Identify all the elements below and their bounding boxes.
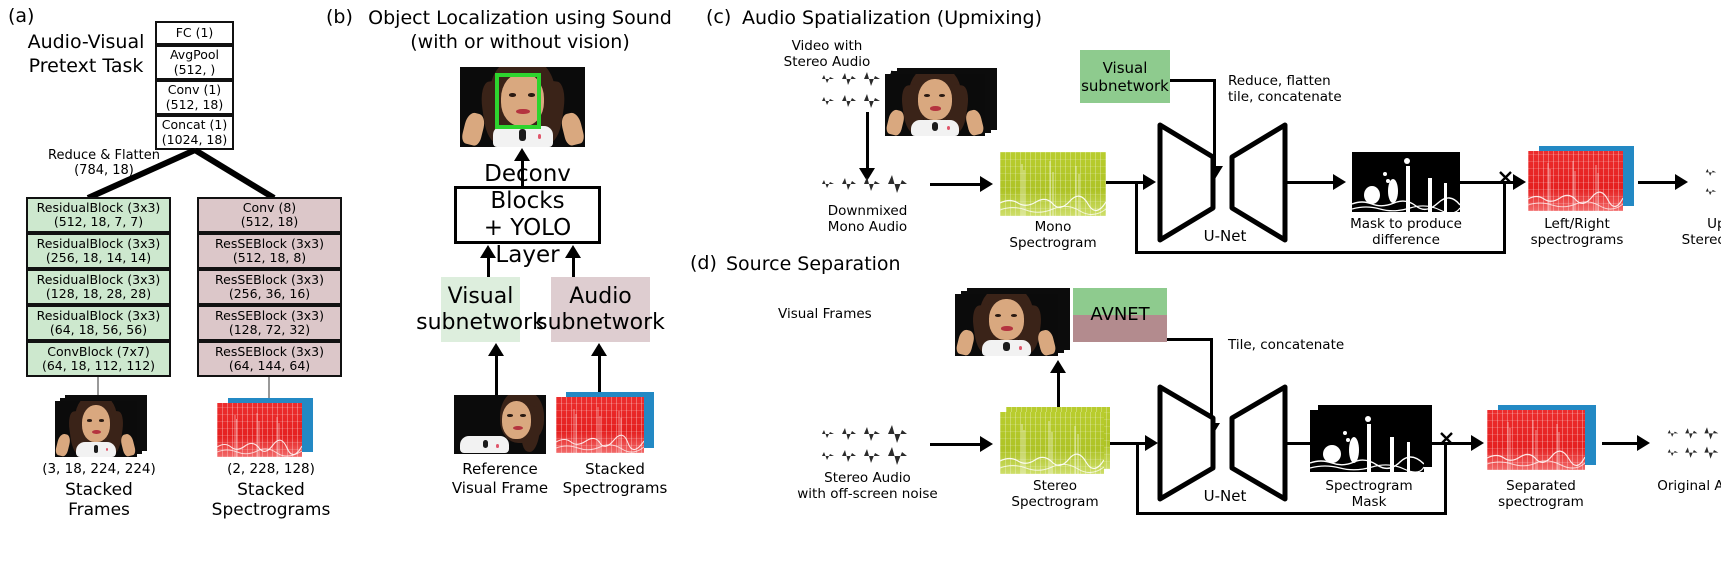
skip-connection-d-v2: [1444, 442, 1447, 515]
panel-d-label: (d): [690, 252, 717, 275]
unet-to-mask-line-c: [1286, 181, 1336, 184]
audio-stack-block-0-line2: (512, 18): [241, 215, 298, 230]
block-conv1-line2: (512, 18): [166, 98, 223, 113]
skip-connection-c-h: [1135, 251, 1506, 254]
visual-stack-block-2-line1: ResidualBlock (3x3): [37, 273, 161, 288]
visual-stack-block-0-line1: ResidualBlock (3x3): [37, 201, 161, 216]
refframe-to-visual-arrowhead: [488, 343, 504, 356]
block-conv1-line1: Conv (1): [166, 83, 223, 98]
mask-to-separated-line-d: [1424, 442, 1476, 445]
audio-subnetwork-b-line1: Audio: [536, 284, 665, 310]
detection-output-image: [460, 67, 585, 147]
panel-b-title-line2: (with or without vision): [360, 30, 680, 54]
deconv-line1: Deconv Blocks: [457, 161, 598, 215]
downmixed-caption-line1: Downmixed: [800, 203, 935, 219]
reduce-flatten-c-line1: Reduce, flatten: [1228, 73, 1388, 89]
visual-stack-block-3: ResidualBlock (3x3)(64, 18, 56, 56): [26, 305, 171, 341]
visual-stack-block-3-line2: (64, 18, 56, 56): [37, 323, 161, 338]
deconv-line2: + YOLO Layer: [457, 215, 598, 269]
mono-spec-caption-line1: Mono: [1003, 219, 1103, 235]
unet-to-mask-arrowhead-c: [1333, 174, 1346, 190]
audio-stack-block-0-line1: Conv (8): [241, 201, 298, 216]
audio-subnetwork-b-line2: subnetwork: [536, 310, 665, 336]
panel-a-title-line2: Pretext Task: [16, 54, 156, 78]
frames-caption-line1: Stacked: [28, 480, 170, 500]
original-audio-waveform: [1659, 423, 1721, 463]
panel-b-title: Object Localization using Sound (with or…: [360, 6, 680, 54]
deconv-to-image-arrowhead: [514, 148, 530, 161]
block-conv1: Conv (1) (512, 18): [155, 80, 234, 115]
panel-b-label: (b): [326, 6, 353, 29]
left-right-spectrograms-c: [1528, 146, 1638, 216]
stereo-spec-caption-line2: Spectrogram: [995, 494, 1115, 510]
visual-stack-block-1-line1: ResidualBlock (3x3): [37, 237, 161, 252]
audio-subnetwork-box-b: Audio subnetwork: [551, 277, 650, 342]
stacked-spec-b-caption-line2: Spectrograms: [532, 479, 698, 497]
mask-caption-c-line1: Mask to produce: [1345, 216, 1467, 232]
tile-concat-caption-d: Tile, concatenate: [1228, 337, 1398, 353]
video-frames-thumbnail-c: [885, 68, 997, 136]
video-stereo-caption-line2: Stereo Audio: [762, 54, 892, 70]
block-concat-line2: (1024, 18): [162, 133, 227, 148]
mask-to-lr-line-c: [1460, 181, 1518, 184]
spectrogram-mask-front-d: [1310, 410, 1424, 472]
separated-spectrogram-red-d: [1487, 410, 1585, 470]
downmix-arrow-line: [866, 112, 869, 170]
visual-subnetwork-b-line1: Visual: [416, 284, 545, 310]
skip-connection-c-v2: [1503, 181, 1506, 254]
frames-caption-line2: Frames: [28, 500, 170, 520]
video-face-image-c: [885, 74, 985, 136]
stereo-to-spec-line-d: [930, 443, 982, 446]
panel-c-label: (c): [706, 6, 731, 29]
stacked-spectrograms-thumbnail: [217, 398, 317, 458]
block-avgpool-line1: AvgPool: [170, 48, 219, 63]
visual-subnetwork-c-line1: Visual: [1081, 59, 1169, 77]
spectrogram-red-layer-b: [556, 397, 644, 453]
audio-stack-block-3: ResSEBlock (3x3)(128, 72, 32): [197, 305, 342, 341]
unet-label-c: U-Net: [1175, 227, 1275, 245]
audio-stack-block-4-line2: (64, 144, 64): [215, 359, 324, 374]
visual-subnetwork-box-b: Visual subnetwork: [441, 277, 520, 342]
video-frames-thumbnail-d: [955, 288, 1070, 356]
audio-stack-block-1: ResSEBlock (3x3)(512, 18, 8): [197, 233, 342, 269]
block-concat: Concat (1) (1024, 18): [155, 115, 234, 150]
visual-subnetwork-box-c: Visual subnetwork: [1080, 50, 1170, 103]
block-concat-line1: Concat (1): [162, 118, 227, 133]
mono-to-spec-line: [930, 183, 982, 186]
spectrograms-caption-line1: Stacked: [190, 480, 352, 500]
reduce-flatten-a-label: Reduce & Flatten (784, 18): [44, 148, 164, 178]
spectrogram-mask-d: [1310, 405, 1435, 477]
audio-stack-block-3-line2: (128, 72, 32): [215, 323, 324, 338]
stacked-spectrograms-thumbnail-b: [556, 392, 661, 454]
frame-sheet-front: [55, 401, 137, 457]
visual-c-elbow-h: [1170, 79, 1216, 82]
mask-to-separated-arrowhead-d: [1471, 435, 1484, 451]
video-frame-front-c: [885, 74, 985, 136]
mask-image-c: [1352, 152, 1460, 212]
lr-spec-caption-line1: Left/Right: [1519, 216, 1635, 232]
upmixed-caption-line2: Stereo Audio: [1650, 232, 1721, 248]
video-face-image-d: [955, 294, 1058, 356]
unet-shape-d: [1155, 382, 1290, 504]
spectrograms-caption-line2: Spectrograms: [180, 500, 362, 520]
spectrogram-mask-caption-line2: Mask: [1307, 494, 1431, 510]
avnet-label: AVNET: [1073, 305, 1167, 325]
audio-stack-block-3-line1: ResSEBlock (3x3): [215, 309, 324, 324]
separated-to-original-line: [1602, 442, 1640, 445]
visual-stack-block-0: ResidualBlock (3x3)(512, 18, 7, 7): [26, 197, 171, 233]
visual-stack-block-2-line2: (128, 18, 28, 28): [37, 287, 161, 302]
stereo-audio-caption-line2: with off-screen noise: [780, 486, 955, 502]
stereo-spectrogram-d: [1000, 407, 1115, 477]
frames-shape-caption: (3, 18, 224, 224): [28, 461, 170, 477]
reduce-flatten-a-line2: (784, 18): [44, 163, 164, 178]
merge-multiply-icon-d: [1437, 429, 1457, 449]
lr-spectrogram-red-c: [1528, 151, 1623, 211]
visual-stack-block-2: ResidualBlock (3x3)(128, 18, 28, 28): [26, 269, 171, 305]
spectrogram-mask-caption-line1: Spectrogram: [1307, 478, 1431, 494]
panel-a-title-line1: Audio-Visual: [16, 30, 156, 54]
visual-stack-block-0-line2: (512, 18, 7, 7): [37, 215, 161, 230]
video-frame-front-d: [955, 294, 1058, 356]
visual-to-deconv-line: [487, 257, 490, 277]
visual-stack-block-4: ConvBlock (7x7)(64, 18, 112, 112): [26, 341, 171, 377]
spec-to-unet-line-d: [1110, 442, 1148, 445]
stacked-frames-thumbnail: [55, 395, 147, 457]
audio-stack-block-1-line2: (512, 18, 8): [215, 251, 324, 266]
mask-caption-c-line2: difference: [1345, 232, 1467, 248]
reduce-flatten-c-line2: tile, concatenate: [1228, 89, 1388, 105]
figure-root: (a) Audio-Visual Pretext Task FC (1) Avg…: [0, 0, 1721, 568]
panel-a-title: Audio-Visual Pretext Task: [16, 30, 156, 78]
audio-to-deconv-arrowhead: [565, 245, 581, 258]
reference-face-image: [454, 395, 546, 454]
avnet-box: AVNET: [1073, 288, 1167, 342]
stereo-spec-caption-line1: Stereo: [1000, 478, 1110, 494]
visual-stack-block-1-line2: (256, 18, 14, 14): [37, 251, 161, 266]
panel-a-label: (a): [8, 5, 34, 28]
lr-to-upmixed-line: [1638, 181, 1678, 184]
block-fc-line1: FC (1): [176, 25, 214, 40]
audio-stack-block-2: ResSEBlock (3x3)(256, 36, 16): [197, 269, 342, 305]
original-audio-caption: Original Audio: [1630, 478, 1721, 494]
panel-c-title: Audio Spatialization (Upmixing): [742, 6, 1042, 30]
spec-to-audio-arrowhead: [591, 343, 607, 356]
audio-stack-block-1-line1: ResSEBlock (3x3): [215, 237, 324, 252]
stereo-waveform-d: [812, 425, 922, 465]
spectrograms-shape-caption: (2, 228, 128): [200, 461, 342, 477]
skip-connection-c-v1: [1135, 181, 1138, 254]
panel-d-title: Source Separation: [726, 252, 901, 276]
mask-to-lr-arrowhead-c: [1513, 174, 1526, 190]
audio-to-deconv-line: [572, 257, 575, 277]
deconv-yolo-box: Deconv Blocks + YOLO Layer: [454, 186, 601, 244]
unet-label-d: U-Net: [1175, 487, 1275, 505]
video-stereo-caption-line1: Video with: [762, 38, 892, 54]
audio-stack-block-4: ResSEBlock (3x3)(64, 144, 64): [197, 341, 342, 377]
visual-stack-block-3-line1: ResidualBlock (3x3): [37, 309, 161, 324]
block-avgpool-line2: (512, ): [170, 63, 219, 78]
mono-spectrogram-c: [1000, 152, 1106, 216]
skip-connection-d-v1: [1136, 442, 1139, 515]
downmixed-caption-line2: Mono Audio: [800, 219, 935, 235]
bounding-box-overlay: [495, 73, 541, 129]
visual-subnetwork-b-line2: subnetwork: [416, 310, 545, 336]
audio-stack-block-0: Conv (8)(512, 18): [197, 197, 342, 233]
visual-stack-block-4-line1: ConvBlock (7x7): [42, 345, 155, 360]
visual-subnetwork-c-line2: subnetwork: [1081, 77, 1169, 95]
stereo-spectrogram-front-d: [1000, 412, 1104, 474]
stacked-spec-b-caption-line1: Stacked: [540, 460, 690, 478]
stereo-to-spec-arrowhead-d: [980, 436, 993, 452]
separated-to-original-arrowhead: [1637, 435, 1650, 451]
visual-frames-caption-d: Visual Frames: [778, 306, 888, 322]
separated-spec-caption-line2: spectrogram: [1477, 494, 1605, 510]
separated-spec-caption-line1: Separated: [1483, 478, 1599, 494]
lr-spec-caption-line2: spectrograms: [1519, 232, 1635, 248]
skip-connection-d-h: [1136, 512, 1447, 515]
audio-stack-block-4-line1: ResSEBlock (3x3): [215, 345, 324, 360]
spec-to-unet-line-c: [1106, 181, 1146, 184]
panel-b-title-line1: Object Localization using Sound: [360, 6, 680, 30]
audio-stack-block-2-line1: ResSEBlock (3x3): [215, 273, 324, 288]
upmixed-caption-line1: Upmixed: [1662, 216, 1721, 232]
spectrogram-red-layer: [217, 403, 302, 457]
visual-stack-block-4-line2: (64, 18, 112, 112): [42, 359, 155, 374]
separated-spectrogram-d: [1487, 405, 1602, 475]
spec-to-avnet-arrowhead: [1050, 360, 1066, 373]
block-avgpool: AvgPool (512, ): [155, 45, 234, 80]
audio-stack-block-2-line2: (256, 36, 16): [215, 287, 324, 302]
mono-spec-caption-line2: Spectrogram: [1003, 235, 1103, 251]
reduce-flatten-a-line1: Reduce & Flatten: [44, 148, 164, 163]
mono-to-spec-arrowhead: [980, 176, 993, 192]
avnet-elbow-h: [1167, 338, 1213, 341]
stereo-audio-caption-line1: Stereo Audio: [800, 470, 935, 486]
audio-stack-tether: [268, 377, 270, 400]
block-fc: FC (1): [155, 21, 234, 45]
visual-to-deconv-arrowhead: [480, 245, 496, 258]
reference-visual-frame-thumbnail: [454, 395, 546, 454]
lr-to-upmixed-arrowhead: [1675, 174, 1688, 190]
mono-waveform-c: [812, 175, 922, 195]
upmixed-stereo-waveform: [1697, 162, 1721, 202]
face-image: [55, 401, 137, 457]
visual-stack-block-1: ResidualBlock (3x3)(256, 18, 14, 14): [26, 233, 171, 269]
